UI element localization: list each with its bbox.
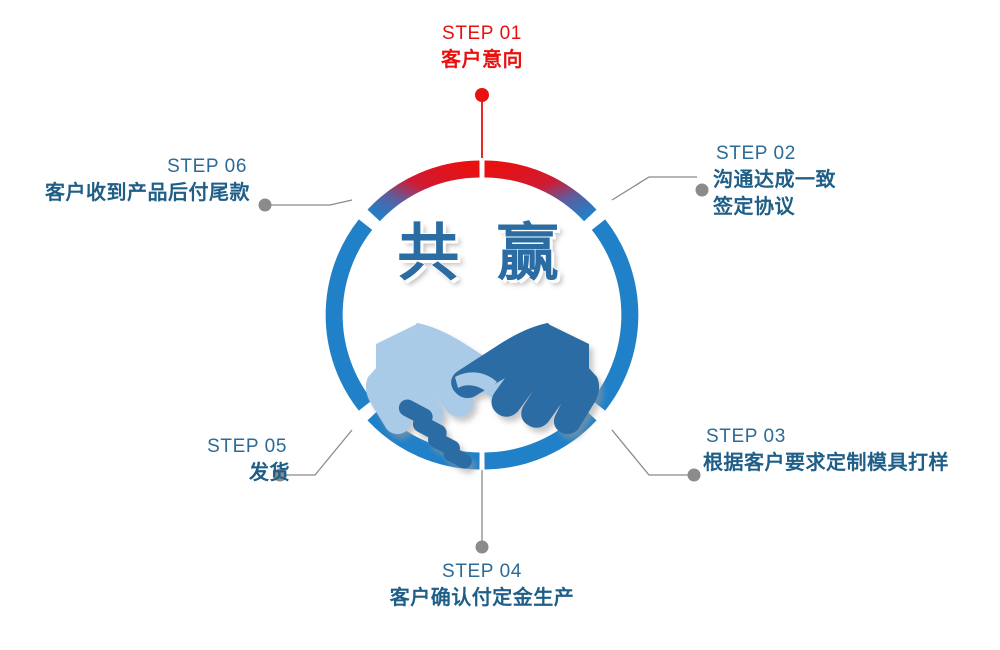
connector-step-02 bbox=[612, 177, 697, 200]
step-number-04: STEP 04 bbox=[382, 560, 582, 584]
infographic-canvas: 共 赢 STEP 01 客户意向 STEP 02 沟通达成一致 签定协议 STE… bbox=[0, 0, 1000, 650]
step-text-02-line-1: 沟通达成一致 bbox=[713, 166, 983, 193]
ring-segment-1 bbox=[485, 169, 591, 215]
handshake-icon bbox=[366, 323, 599, 471]
ring-segment-6 bbox=[374, 169, 480, 215]
marker-dot-step-06 bbox=[259, 199, 272, 212]
step-text-01: 客户意向 bbox=[382, 46, 582, 73]
step-number-05: STEP 05 bbox=[100, 435, 290, 459]
step-text-06: 客户收到产品后付尾款 bbox=[10, 179, 250, 206]
step-number-03: STEP 03 bbox=[703, 425, 993, 449]
step-label-02[interactable]: STEP 02 沟通达成一致 签定协议 bbox=[713, 142, 983, 220]
step-number-01: STEP 01 bbox=[382, 22, 582, 46]
step-text-04: 客户确认付定金生产 bbox=[382, 584, 582, 611]
marker-dot-step-04 bbox=[476, 541, 489, 554]
step-label-06[interactable]: STEP 06 客户收到产品后付尾款 bbox=[10, 155, 250, 206]
ring-segment-5 bbox=[334, 225, 365, 406]
marker-dot-step-02 bbox=[696, 184, 709, 197]
marker-dot-step-01 bbox=[475, 88, 489, 102]
center-wordmark: 共 赢 bbox=[392, 218, 572, 288]
step-text-05: 发货 bbox=[100, 459, 290, 486]
step-text-02-line-2: 签定协议 bbox=[713, 193, 983, 220]
connector-step-06 bbox=[270, 200, 352, 205]
step-label-05[interactable]: STEP 05 发货 bbox=[100, 435, 290, 486]
step-label-04[interactable]: STEP 04 客户确认付定金生产 bbox=[382, 560, 582, 611]
step-number-06: STEP 06 bbox=[10, 155, 250, 179]
connector-step-05 bbox=[284, 430, 352, 475]
step-label-01[interactable]: STEP 01 客户意向 bbox=[382, 22, 582, 73]
connector-step-03 bbox=[612, 430, 690, 475]
circle-diagram-svg bbox=[0, 0, 1000, 650]
marker-dot-step-03 bbox=[688, 469, 701, 482]
step-label-03[interactable]: STEP 03 根据客户要求定制模具打样 bbox=[703, 425, 993, 476]
step-text-03: 根据客户要求定制模具打样 bbox=[703, 449, 993, 476]
step-number-02: STEP 02 bbox=[713, 142, 983, 166]
ring-segment-2 bbox=[599, 225, 630, 406]
